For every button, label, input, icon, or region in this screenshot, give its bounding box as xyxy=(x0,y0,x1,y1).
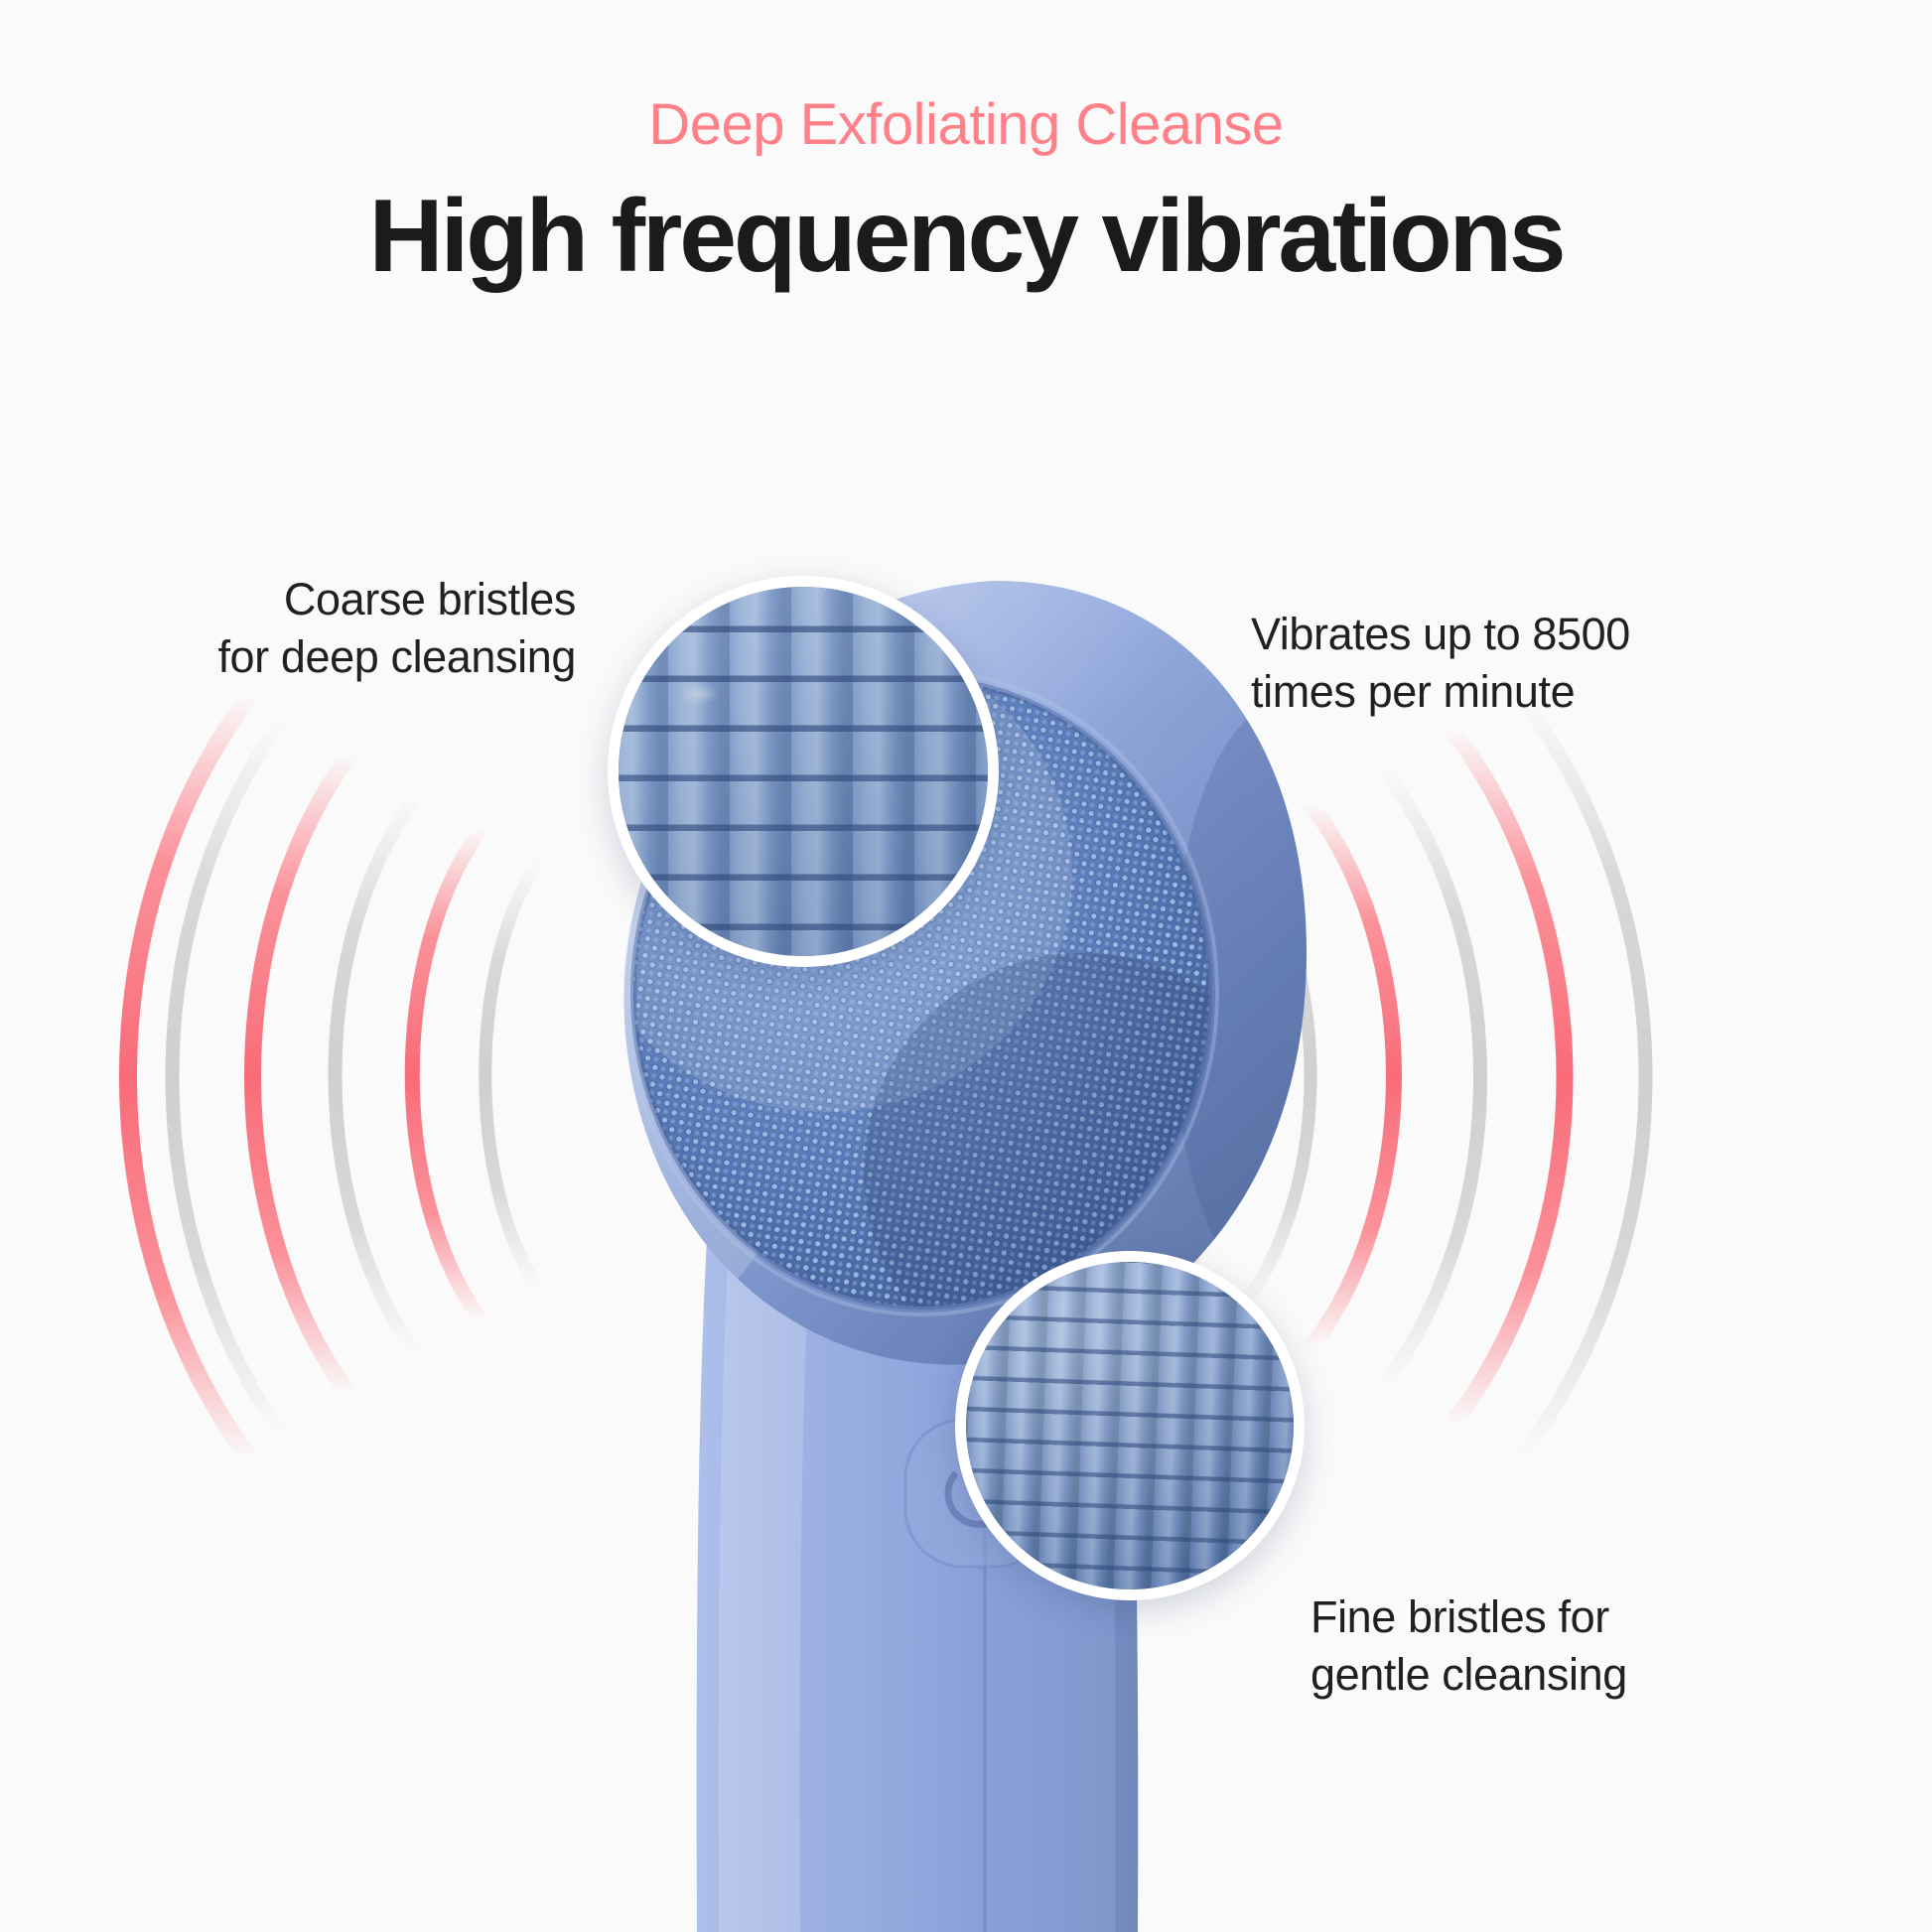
fine-bristle-zoom xyxy=(955,1251,1305,1600)
coarse-bristle-texture xyxy=(619,587,988,956)
callout-coarse-bristles: Coarse bristles for deep cleansing xyxy=(60,571,576,685)
infographic-canvas: Deep Exfoliating Cleanse High frequency … xyxy=(0,0,1932,1932)
callout-vibration-rate: Vibrates up to 8500 times per minute xyxy=(1251,606,1807,720)
fine-bristle-texture xyxy=(966,1262,1294,1589)
coarse-bristle-zoom xyxy=(608,576,999,967)
callout-fine-bristles: Fine bristles for gentle cleansing xyxy=(1311,1588,1827,1703)
